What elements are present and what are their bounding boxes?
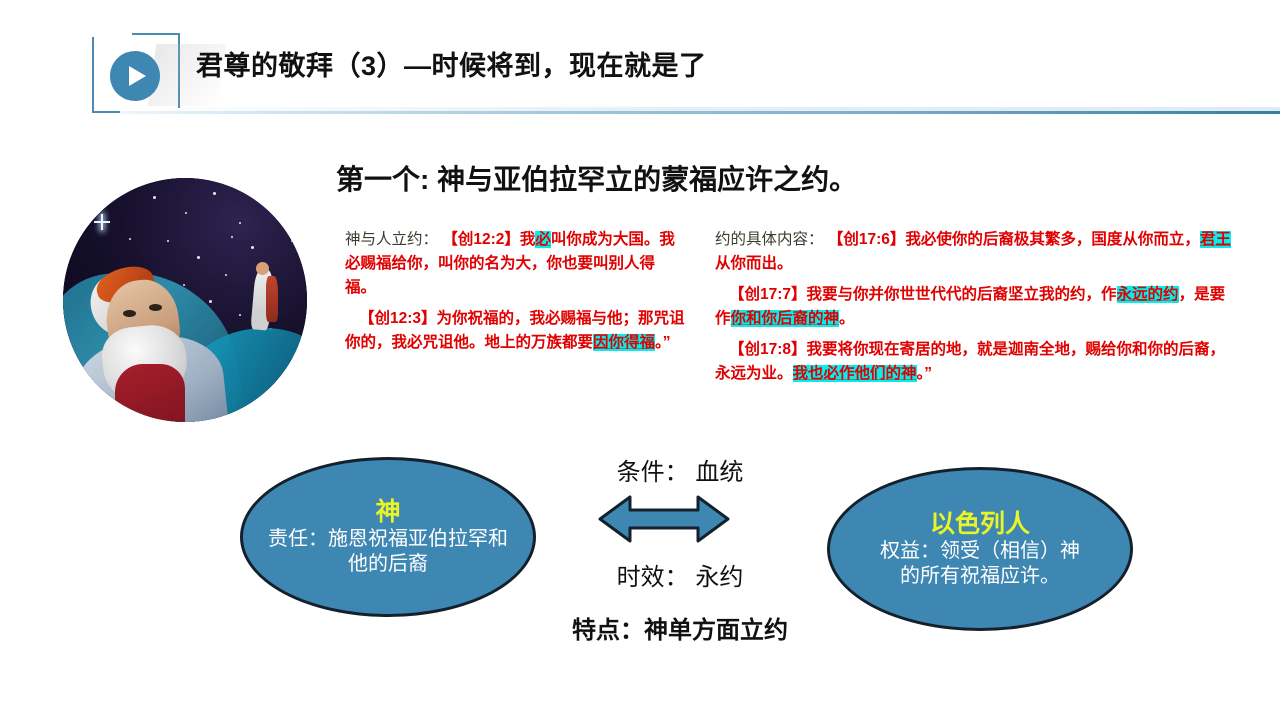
scripture-paragraph: 约的具体内容： 【创17:6】我必使你的后裔极其繁多，国度从你而立，君王从你而出… [715,228,1235,276]
verse-ref: 【创17:7】 [729,286,807,303]
oval-god[interactable]: 神 责任：施恩祝福亚伯拉罕和他的后裔 [240,457,536,617]
verse-text: 。 [839,310,855,327]
scripture-paragraph: 【创17:7】我要与你并你世世代代的后裔坚立我的约，作永远的约，是要作你和你后裔… [715,283,1235,331]
header-bracket-gap-top [92,31,132,37]
abraham-eye-right [149,304,162,311]
abraham-illustration [63,178,307,422]
double-arrow-icon [598,493,730,545]
scripture-block-left: 神与人立约： 【创12:2】我必叫你成为大国。我必赐福给你，叫你的名为大，你也要… [345,228,685,362]
closing-quote: ” [663,334,671,351]
feature-label: 特点：神单方面立约 [520,610,840,645]
play-icon[interactable] [110,51,160,101]
abraham-eye-left [123,310,136,317]
condition-label: 条件： 血统 [530,452,830,487]
verse-ref: 【创12:2】 [442,231,520,248]
scripture-paragraph: 【创17:8】我要将你现在寄居的地，就是迦南全地，赐给你和你的后裔，永远为业。我… [715,338,1235,386]
oval-israel-body: 权益：领受（相信）神的所有祝福应许。 [830,539,1130,589]
verse-ref: 【创12:3】 [359,310,437,327]
scripture-paragraph: 神与人立约： 【创12:2】我必叫你成为大国。我必赐福给你，叫你的名为大，你也要… [345,228,685,300]
verse-text: 从你而出。 [715,255,793,272]
scripture-block-right: 约的具体内容： 【创17:6】我必使你的后裔极其繁多，国度从你而立，君王从你而出… [715,228,1235,393]
verse-ref: 【创17:8】 [729,341,807,358]
duration-label: 时效： 永约 [530,557,830,592]
highlight-text: 君王 [1200,231,1231,248]
distant-figure-cloak [266,276,278,322]
abraham-tunic [115,364,185,422]
page-title: 君尊的敬拜（3）—时候将到，现在就是了 [196,44,707,83]
scripture-paragraph: 【创12:3】为你祝福的，我必赐福与他；那咒诅你的，我必咒诅他。地上的万族都要因… [345,307,685,355]
highlight-text: 永远的约 [1117,286,1179,303]
scripture-label: 神与人立约： [345,231,438,248]
highlight-text: 我也必作他们的神 [793,365,917,382]
header-divider-line [120,111,1280,114]
section-title: 第一个: 神与亚伯拉罕立的蒙福应许之约。 [336,158,857,198]
distant-figure-head [256,262,269,275]
highlight-text: 必 [535,231,551,248]
verse-text: 我 [520,231,536,248]
play-triangle-icon [129,66,146,86]
verse-text: 我要与你并你世世代代的后裔坚立我的约，作 [807,286,1117,303]
highlight-text: 因你得福 [593,334,655,351]
verse-text: 我必使你的后裔极其繁多，国度从你而立， [905,231,1200,248]
verse-text: 。 [655,334,663,351]
verse-ref: 【创17:6】 [828,231,906,248]
slide-header: 君尊的敬拜（3）—时候将到，现在就是了 [0,0,1280,120]
oval-god-title: 神 [375,498,400,526]
oval-israel-title: 以色列人 [930,510,1030,538]
bright-star-icon [101,214,103,230]
closing-quote: ” [924,365,932,382]
oval-israel[interactable]: 以色列人 权益：领受（相信）神的所有祝福应许。 [827,467,1133,631]
scripture-label: 约的具体内容： [715,231,824,248]
highlight-text: 你和你后裔的神 [731,310,840,327]
oval-god-body: 责任：施恩祝福亚伯拉罕和他的后裔 [243,527,533,577]
